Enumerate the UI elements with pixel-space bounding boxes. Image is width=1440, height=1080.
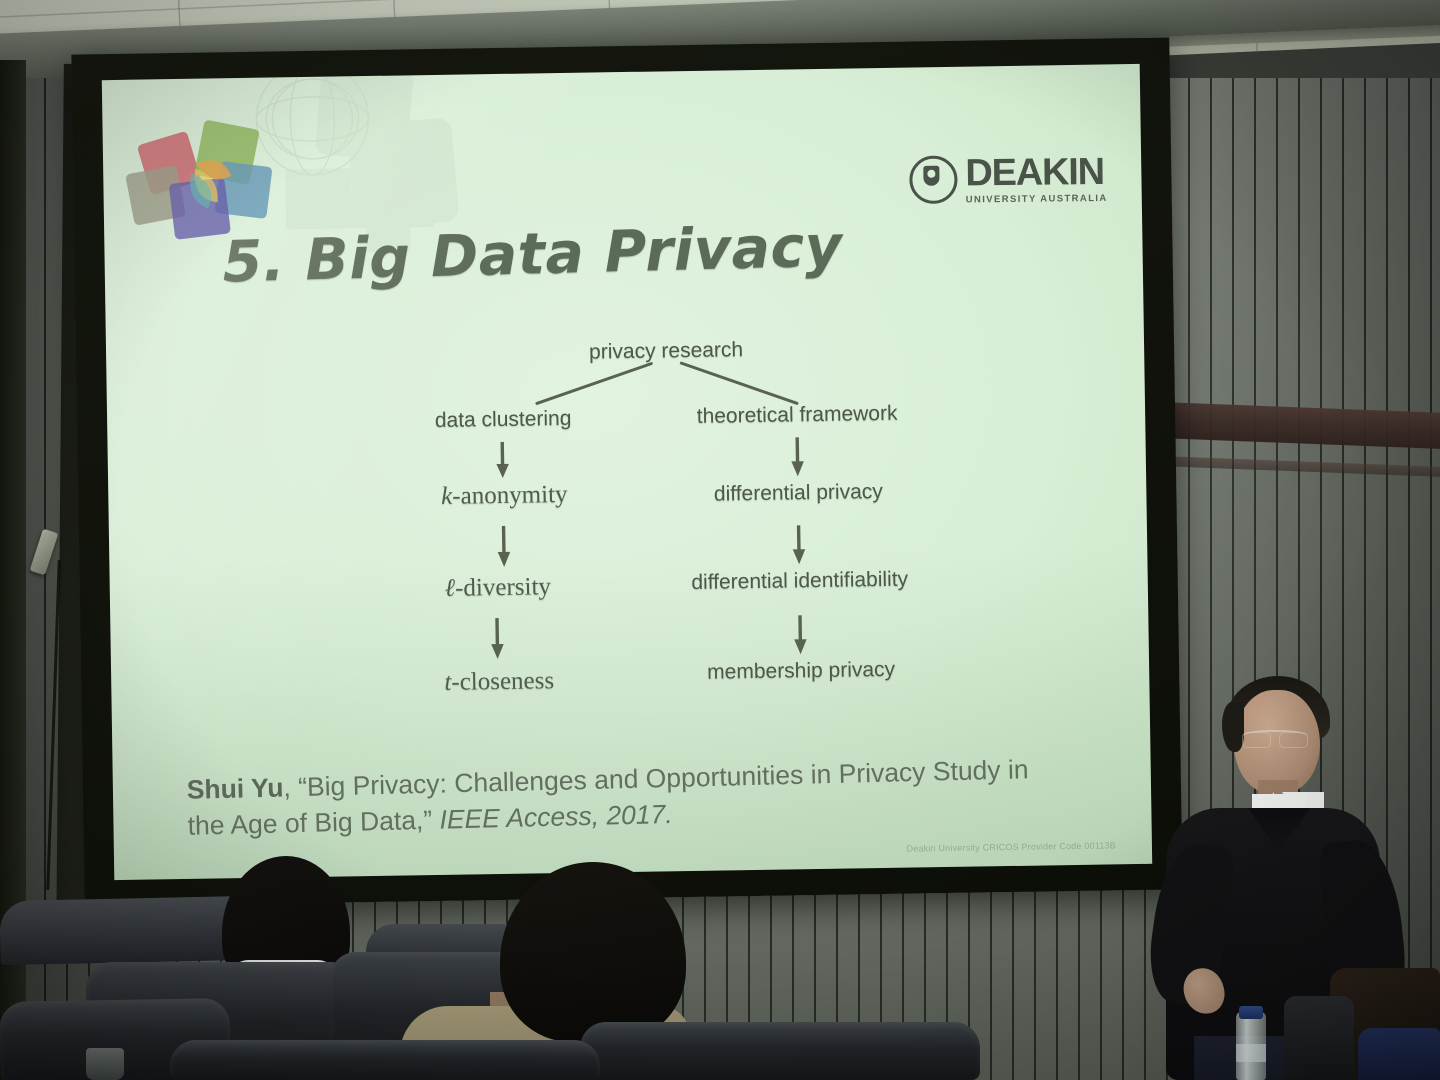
drinking-glass [86, 1048, 124, 1080]
node-k-anonymity-text: -anonymity [452, 481, 568, 510]
node-theoretical-framework: theoretical framework [697, 402, 898, 429]
arrow-right-2 [792, 525, 805, 564]
node-t-closeness: t-closeness [444, 667, 554, 697]
water-bottle-cap [1239, 1006, 1263, 1019]
node-data-clustering: data clustering [435, 407, 572, 433]
deakin-tagline: UNIVERSITY AUSTRALIA [966, 194, 1108, 205]
node-differential-identifiability: differential identifiability [691, 568, 908, 595]
projection-screen: DEAKIN UNIVERSITY AUSTRALIA 5. Big Data … [102, 64, 1152, 880]
node-membership-privacy: membership privacy [707, 658, 895, 685]
deakin-crest-icon [909, 156, 958, 205]
blue-bag [1358, 1028, 1440, 1080]
citation-venue: IEEE Access, 2017. [439, 799, 673, 835]
projection-screen-frame: DEAKIN UNIVERSITY AUSTRALIA 5. Big Data … [71, 37, 1182, 906]
node-t-closeness-text: -closeness [451, 667, 554, 696]
glasses-icon [1242, 730, 1308, 747]
arrow-right-1 [791, 437, 804, 476]
water-bottle-label [1236, 1044, 1266, 1062]
presenter-hair-side [1222, 702, 1244, 752]
seat [580, 1022, 980, 1080]
node-k-anonymity: k-anonymity [441, 481, 568, 511]
arrow-left-1 [496, 442, 509, 478]
arrow-left-2 [497, 526, 510, 567]
deakin-logo: DEAKIN UNIVERSITY AUSTRALIA [909, 153, 1108, 206]
node-differential-privacy: differential privacy [714, 480, 883, 507]
cricos-footer: Deakin University CRICOS Provider Code 0… [906, 840, 1116, 853]
privacy-research-tree-diagram: privacy research data clustering k-anony… [106, 332, 1150, 708]
node-k-anonymity-symbol: k [441, 483, 453, 510]
citation-author: Shui Yu [186, 772, 283, 804]
presentation-photo-scene: DEAKIN UNIVERSITY AUSTRALIA 5. Big Data … [0, 0, 1440, 1080]
node-l-diversity-text: -diversity [455, 573, 551, 602]
citation-text: Shui Yu, “Big Privacy: Challenges and Op… [186, 751, 1067, 844]
seat [170, 1040, 600, 1080]
arrow-right-3 [794, 615, 807, 654]
node-privacy-research: privacy research [589, 338, 743, 364]
node-l-diversity: ℓ-diversity [444, 573, 551, 603]
deakin-wordmark: DEAKIN [965, 153, 1107, 192]
equipment-secondary [1284, 996, 1354, 1080]
arrow-left-3 [491, 618, 504, 659]
diagram-connectors [106, 332, 1150, 708]
